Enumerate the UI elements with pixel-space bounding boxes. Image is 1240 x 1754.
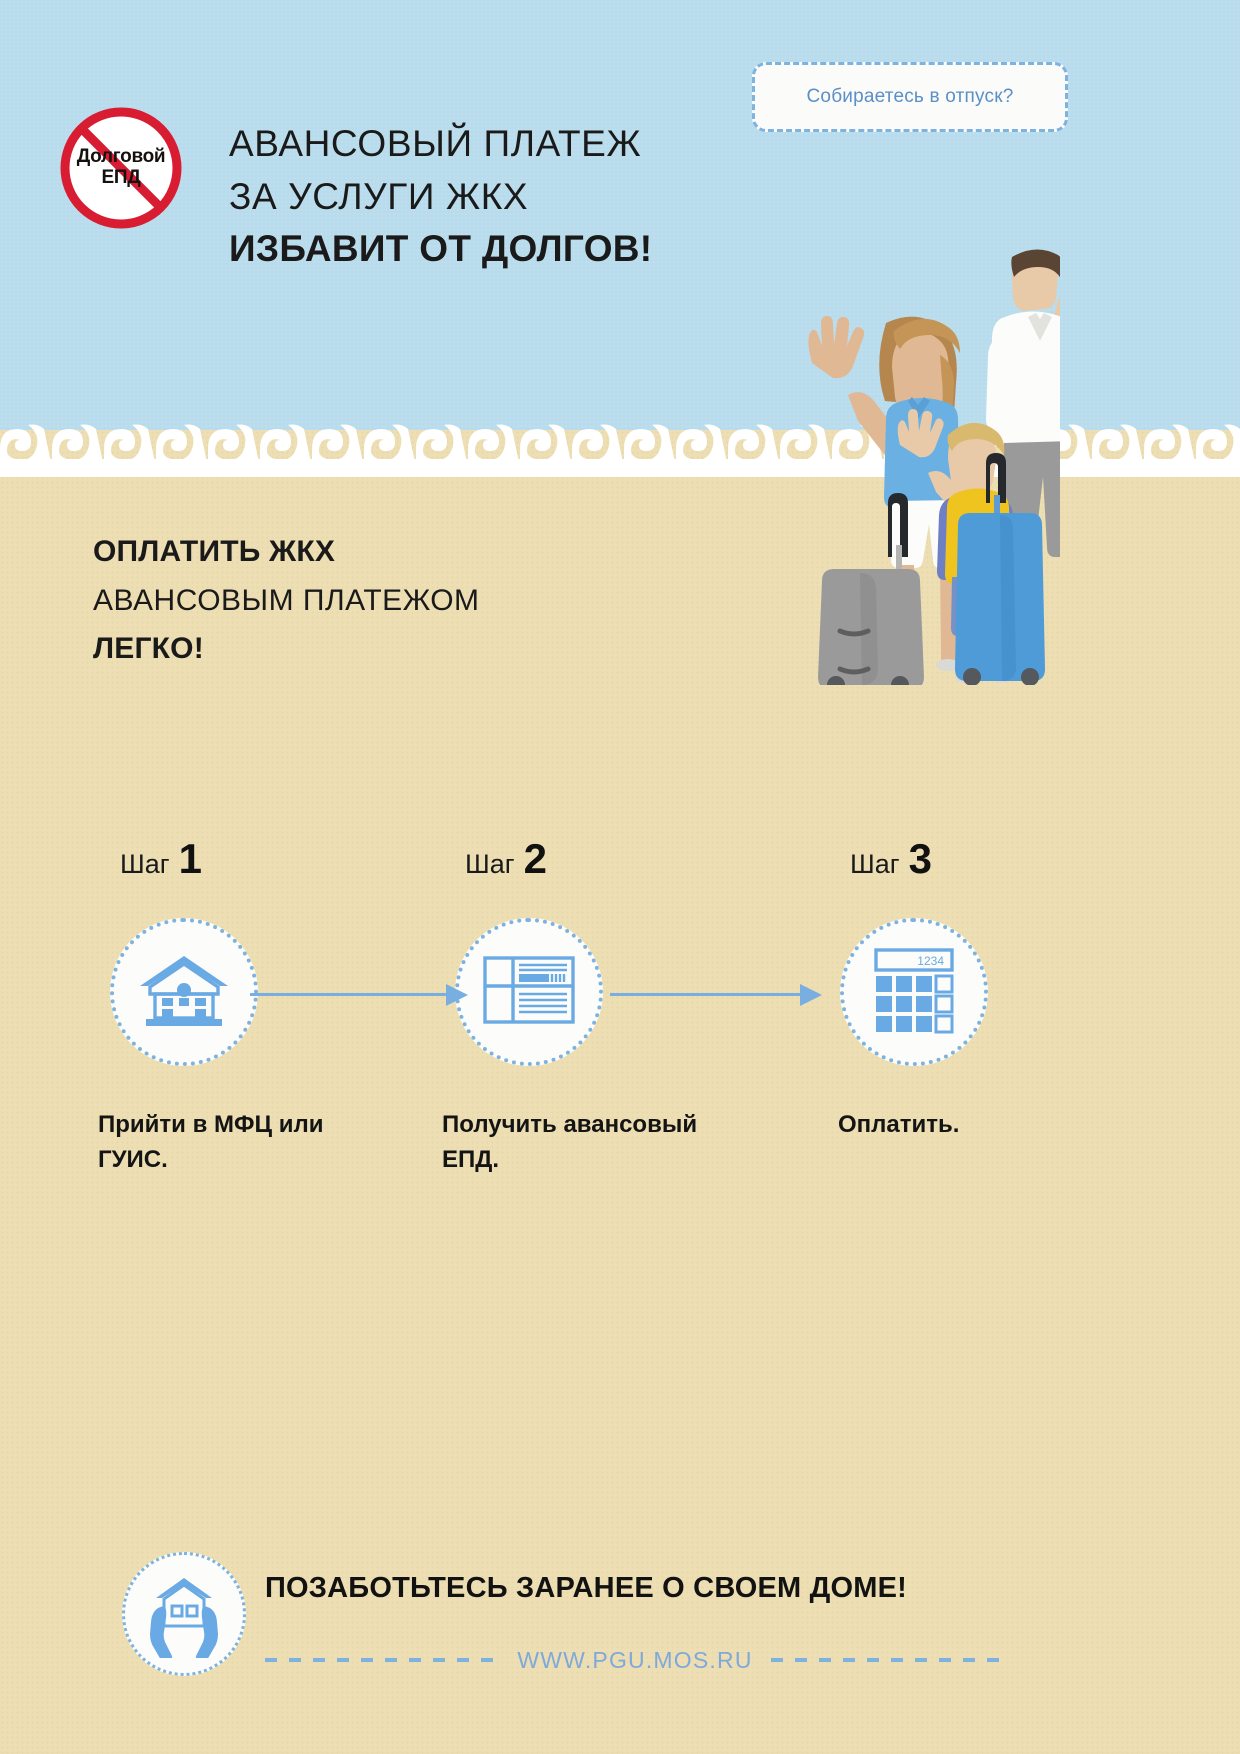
step-2-icon-circle[interactable] (455, 918, 603, 1066)
step-connector-arrow-2 (610, 984, 822, 1004)
step-1-number: 1 (179, 838, 202, 880)
headline-block: АВАНСОВЫЙ ПЛАТЕЖ ЗА УСЛУГИ ЖКХ ИЗБАВИТ О… (229, 118, 789, 276)
building-house-icon (136, 950, 232, 1035)
footer-url-row: WWW.PGU.MOS.RU (265, 1645, 1005, 1675)
step-1-caption: Прийти в МФЦ или ГУИС. (98, 1108, 388, 1178)
calculator-icon: 1234 (872, 946, 956, 1039)
step-3-number: 3 (909, 838, 932, 880)
badge-line-2: ЕПД (102, 168, 141, 189)
badge-line-1: Долговой (77, 147, 166, 168)
step-1-word: Шаг (120, 849, 170, 880)
callout-text: Собираетесь в отпуск? (807, 86, 1014, 108)
headline-line-3: ИЗБАВИТ ОТ ДОЛГОВ! (229, 223, 789, 276)
calculator-display-value: 1234 (917, 954, 944, 968)
step-1-icon-circle[interactable] (110, 918, 258, 1066)
step-3-caption: Оплатить. (838, 1108, 1128, 1143)
poster-root: Долговой ЕПД АВАНСОВЫЙ ПЛАТЕЖ ЗА УСЛУГИ … (0, 0, 1240, 1754)
document-bill-icon (481, 954, 577, 1031)
step-3-label: Шаг 3 (790, 838, 1090, 898)
steps-section: Шаг 1 (0, 838, 1240, 1258)
headline-line-1: АВАНСОВЫЙ ПЛАТЕЖ (229, 118, 789, 171)
hands-holding-house-icon (122, 1552, 246, 1676)
step-item-2: Шаг 2 (420, 838, 720, 898)
step-2-caption: Получить авансовый ЕПД. (442, 1108, 732, 1178)
step-2-label: Шаг 2 (420, 838, 720, 898)
step-item-1: Шаг 1 (80, 838, 380, 898)
prohibition-sign-icon: Долговой ЕПД (58, 105, 184, 231)
footer-url[interactable]: WWW.PGU.MOS.RU (517, 1647, 752, 1674)
subhead-line-1: ОПЛАТИТЬ ЖКХ (93, 528, 713, 577)
step-item-3: Шаг 3 1234 (790, 838, 1090, 898)
step-3-icon-circle[interactable]: 1234 (840, 918, 988, 1066)
vacation-callout-box[interactable]: Собираетесь в отпуск? (752, 62, 1068, 132)
family-with-luggage-illustration (700, 245, 1060, 685)
step-2-word: Шаг (465, 849, 515, 880)
step-2-number: 2 (524, 838, 547, 880)
dash-line-right (771, 1658, 1005, 1662)
footer-tagline: ПОЗАБОТЬТЕСЬ ЗАРАНЕЕ О СВОЕМ ДОМЕ! (265, 1572, 1005, 1605)
subhead-block: ОПЛАТИТЬ ЖКХ АВАНСОВЫМ ПЛАТЕЖОМ ЛЕГКО! (93, 528, 713, 674)
headline-line-2: ЗА УСЛУГИ ЖКХ (229, 171, 789, 224)
subhead-line-2: АВАНСОВЫМ ПЛАТЕЖОМ (93, 577, 713, 626)
dash-line-left (265, 1658, 499, 1662)
step-1-label: Шаг 1 (80, 838, 380, 898)
step-3-word: Шаг (850, 849, 900, 880)
step-connector-arrow-1 (250, 984, 468, 1004)
subhead-line-3: ЛЕГКО! (93, 625, 713, 674)
